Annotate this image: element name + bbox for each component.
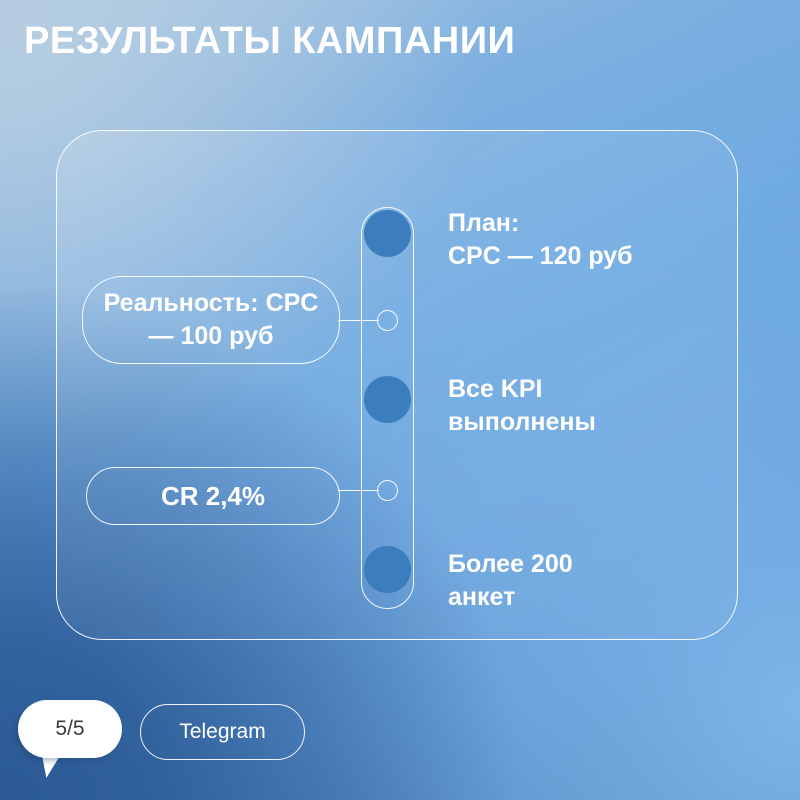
timeline-marker-anketa [364, 546, 411, 593]
page-title: РЕЗУЛЬТАТЫ КАМПАНИИ [24, 18, 515, 64]
connector-line-cr [338, 490, 379, 492]
page-indicator-badge: 5/5 [18, 700, 122, 758]
timeline-marker-cpc [377, 310, 398, 331]
timeline-marker-cr [377, 480, 398, 501]
connector-line-cpc [338, 320, 379, 322]
metric-label-anketa: Более 200 анкет [448, 548, 573, 614]
metric-label-plan: План: CPC — 120 руб [448, 207, 633, 273]
metric-pill-reality: Реальность: CPC — 100 руб [82, 276, 340, 364]
metric-label-kpi: Все KPI выполнены [448, 373, 596, 439]
timeline-marker-plan [364, 210, 411, 257]
telegram-channel-button[interactable]: Telegram [140, 704, 305, 760]
slide-canvas: РЕЗУЛЬТАТЫ КАМПАНИИ Реальность: CPC — 10… [0, 0, 800, 800]
timeline-marker-kpi [364, 376, 411, 423]
metric-pill-cr: CR 2,4% [86, 467, 340, 525]
